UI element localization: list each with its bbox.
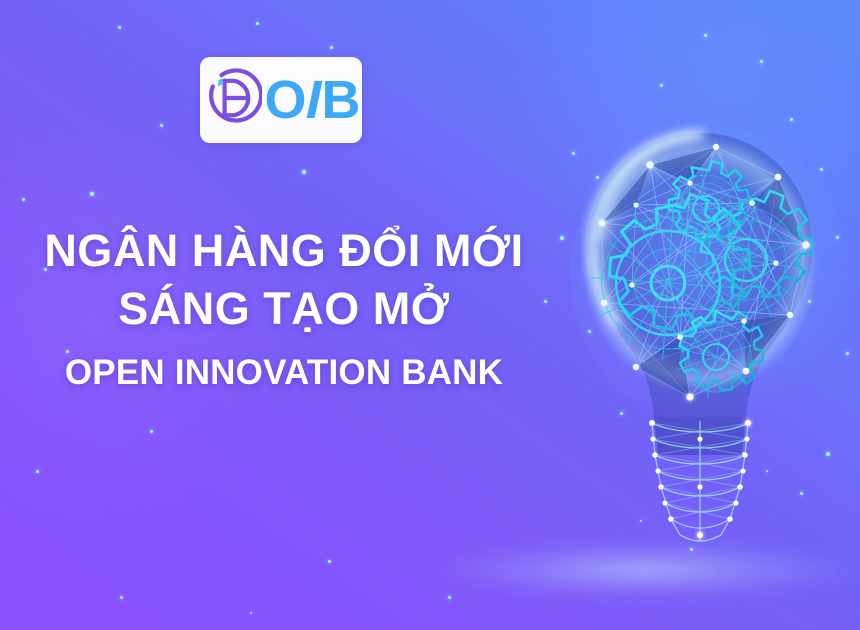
particle-dot xyxy=(22,198,25,201)
particle-dot xyxy=(302,170,306,174)
particle-dot xyxy=(760,60,763,63)
particle-dot xyxy=(90,192,94,196)
particle-dot xyxy=(150,430,153,433)
logo-wordmark: O I B xyxy=(264,73,359,127)
particle-dot xyxy=(448,596,451,599)
logo-inner: O I B xyxy=(202,68,359,133)
particle-dot xyxy=(330,46,333,49)
particle-dot xyxy=(328,560,331,563)
particle-dot xyxy=(118,26,121,29)
headline-line-3: OPEN INNOVATION BANK xyxy=(0,355,568,390)
headline-block: NGÂN HÀNG ĐỔI MỚI SÁNG TẠO MỞ OPEN INNOV… xyxy=(0,228,568,390)
particle-dot xyxy=(250,612,252,614)
headline-line-1: NGÂN HÀNG ĐỔI MỚI xyxy=(0,228,568,273)
logo-badge[interactable]: O I B xyxy=(200,57,362,143)
oib-circle-mark-icon xyxy=(202,68,262,133)
headline-line-2: SÁNG TẠO MỞ xyxy=(0,286,568,331)
particle-dot xyxy=(660,84,663,87)
particle-dot xyxy=(704,34,707,37)
particle-dot xyxy=(36,470,39,473)
lightbulb-illustration xyxy=(540,105,860,615)
particle-dot xyxy=(120,596,123,599)
particle-dot xyxy=(160,124,163,127)
logo-letter-o: O xyxy=(264,73,305,127)
logo-letter-b: B xyxy=(322,73,360,127)
promo-banner: O I B NGÂN HÀNG ĐỔI MỚI SÁNG TẠO MỞ OPEN… xyxy=(0,0,860,630)
bulb-base xyxy=(652,417,748,541)
particle-dot xyxy=(256,22,259,25)
